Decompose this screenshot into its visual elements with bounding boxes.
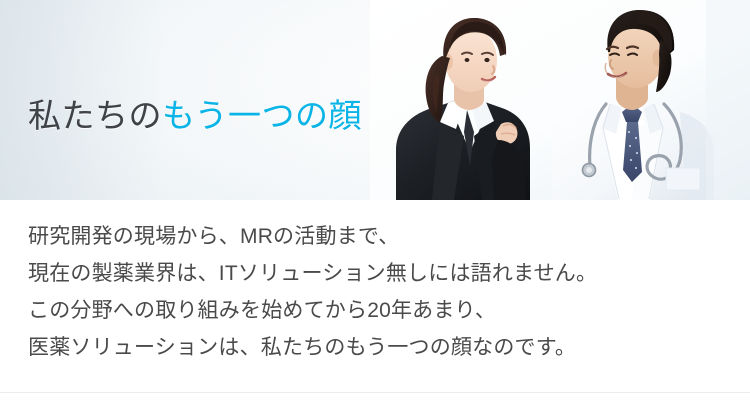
hero-banner: 私たちのもう一つの顔 — [0, 0, 750, 200]
footer-divider — [0, 392, 750, 393]
body-copy-block: 研究開発の現場から、MRの活動まで、 現在の製薬業界は、ITソリューション無しに… — [28, 218, 722, 366]
body-copy-section: 研究開発の現場から、MRの活動まで、 現在の製薬業界は、ITソリューション無しに… — [0, 200, 750, 400]
body-copy-line-3: この分野への取り組みを始めてから20年あまり、 — [28, 292, 722, 329]
body-copy-line-1: 研究開発の現場から、MRの活動まで、 — [28, 218, 722, 255]
photo-people-illustration — [370, 0, 750, 200]
page-root: 私たちのもう一つの顔 研究開発の現場から、MRの活動まで、 現在の製薬業界は、I… — [0, 0, 750, 400]
page-title: 私たちのもう一つの顔 — [28, 94, 362, 138]
page-title-accent: もう一つの顔 — [162, 97, 362, 134]
body-copy-line-2: 現在の製薬業界は、ITソリューション無しには語れません。 — [28, 255, 722, 292]
hero-photo — [370, 0, 750, 200]
body-copy-line-4: 医薬ソリューションは、私たちのもう一つの顔なのです。 — [28, 329, 722, 366]
page-title-prefix: 私たちの — [28, 97, 162, 134]
